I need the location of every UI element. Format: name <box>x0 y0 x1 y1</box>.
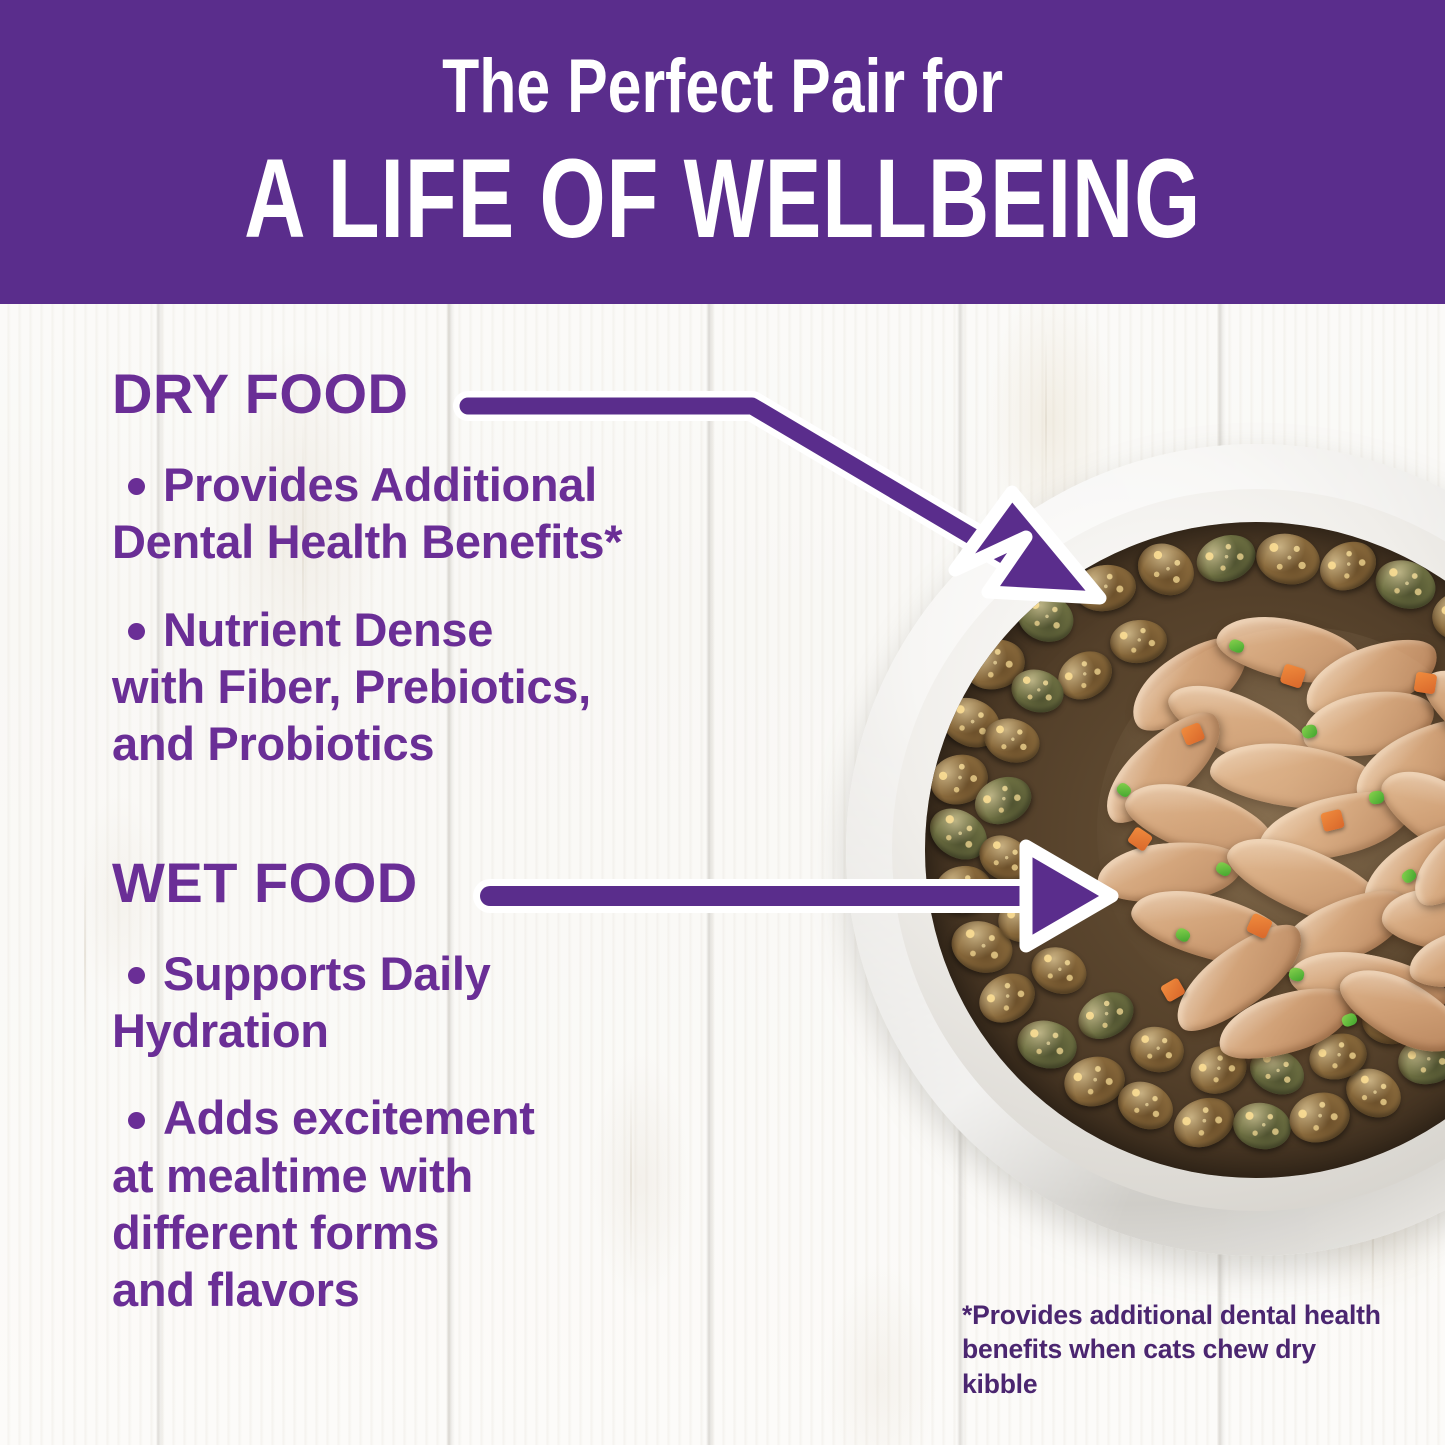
bullet-dot-icon <box>128 478 145 495</box>
bullet-item: Nutrient Dense with Fiber, Prebiotics, a… <box>112 601 812 773</box>
poster-root: The Perfect Pair for A LIFE OF WELLBEING… <box>0 0 1445 1445</box>
wet-food-heading: WET FOOD <box>112 855 812 911</box>
header-banner: The Perfect Pair for A LIFE OF WELLBEING <box>0 0 1445 304</box>
banner-eyebrow: The Perfect Pair for <box>442 49 1003 125</box>
bullet-line: and flavors <box>112 1263 359 1316</box>
bullet-item: Supports Daily Hydration <box>112 945 812 1060</box>
bullet-line: Adds excitement <box>163 1091 535 1144</box>
section-wet-food: WET FOOD Supports Daily Hydration Adds e… <box>112 855 812 1319</box>
bullet-dot-icon <box>128 967 145 984</box>
benefits-content: DRY FOOD Provides Additional Dental Heal… <box>112 366 812 1349</box>
footnote-line-2: benefits when cats chew dry kibble <box>962 1332 1382 1401</box>
bullet-line: Supports Daily <box>163 947 490 1000</box>
bullet-line: Provides Additional <box>163 458 597 511</box>
bullet-dot-icon <box>128 1112 145 1129</box>
bullet-item: Adds excitement at mealtime with differe… <box>112 1089 812 1318</box>
footnote-line-1: *Provides additional dental health <box>962 1298 1382 1332</box>
bullet-line: with Fiber, Prebiotics, <box>112 660 591 713</box>
bullet-line: and Probiotics <box>112 717 434 770</box>
bullet-item: Provides Additional Dental Health Benefi… <box>112 456 812 571</box>
bullet-dot-icon <box>128 623 145 640</box>
bullet-line: Dental Health Benefits* <box>112 515 622 568</box>
bullet-line: different forms <box>112 1206 439 1259</box>
bullet-line: Hydration <box>112 1004 329 1057</box>
wood-grain-streak <box>84 860 86 1050</box>
bullet-line: at mealtime with <box>112 1149 473 1202</box>
wet-food-bullets: Supports Daily Hydration Adds excitement… <box>112 945 812 1319</box>
section-dry-food: DRY FOOD Provides Additional Dental Heal… <box>112 366 812 773</box>
banner-headline: A LIFE OF WELLBEING <box>244 143 1201 255</box>
pet-food-bowl-image <box>846 444 1445 1256</box>
dry-food-bullets: Provides Additional Dental Health Benefi… <box>112 456 812 773</box>
bullet-line: Nutrient Dense <box>163 603 493 656</box>
footnote-disclaimer: *Provides additional dental health benef… <box>962 1298 1382 1401</box>
dry-food-heading: DRY FOOD <box>112 366 812 422</box>
